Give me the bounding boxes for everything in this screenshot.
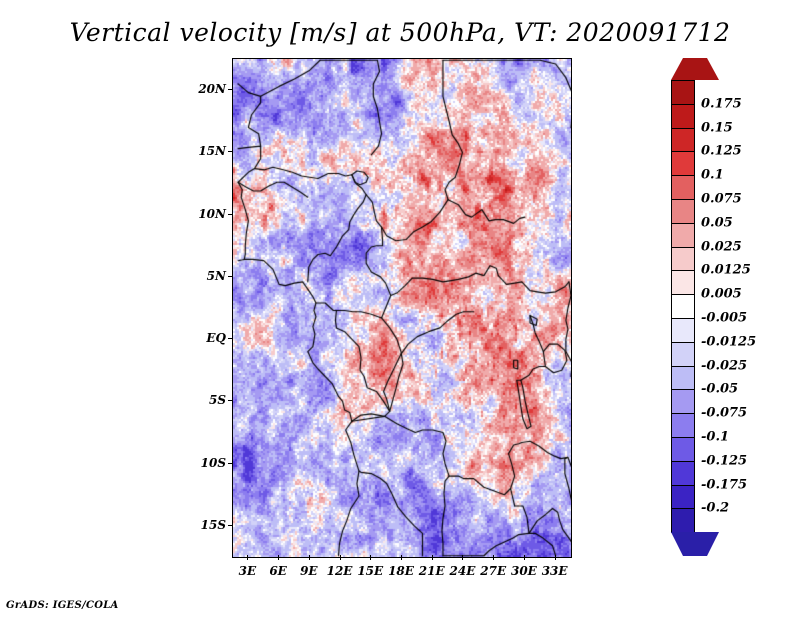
colorbar-tick-label: -0.2	[701, 501, 729, 516]
colorbar-swatch	[671, 318, 695, 343]
colorbar-swatch	[671, 413, 695, 438]
colorbar-swatch	[671, 270, 695, 295]
colorbar-tick-label: 0.025	[701, 239, 742, 254]
colorbar-tick-label: -0.125	[701, 453, 747, 468]
colorbar-tick-label: -0.075	[701, 406, 747, 421]
colorbar-under-arrow	[671, 532, 719, 556]
colorbar-tick-label: 0.125	[701, 144, 742, 159]
colorbar-swatch	[671, 247, 695, 272]
lon-tick-mark	[247, 555, 248, 560]
lon-tick-mark	[370, 555, 371, 560]
colorbar-swatch	[671, 366, 695, 391]
colorbar-swatch	[671, 80, 695, 105]
lon-tick-label: 27E	[480, 564, 506, 578]
colorbar-swatch	[671, 223, 695, 248]
lon-tick-mark	[462, 555, 463, 560]
lat-tick-mark	[228, 151, 233, 152]
lat-tick-mark	[228, 338, 233, 339]
colorbar-tick-label: -0.175	[701, 477, 747, 492]
lon-tick-label: 3E	[239, 564, 257, 578]
lat-tick-mark	[228, 400, 233, 401]
lon-tick-mark	[340, 555, 341, 560]
colorbar-swatch	[671, 199, 695, 224]
country-borders-overlay	[233, 59, 571, 557]
lon-tick-label: 12E	[327, 564, 353, 578]
colorbar-swatch	[671, 508, 695, 533]
lon-tick-mark	[401, 555, 402, 560]
colorbar-tick-label: 0.1	[701, 168, 724, 183]
lon-tick-mark	[278, 555, 279, 560]
lon-tick-mark	[493, 555, 494, 560]
colorbar-swatch	[671, 175, 695, 200]
lat-tick-mark	[228, 463, 233, 464]
lat-tick-label: 15S	[190, 518, 226, 532]
lon-tick-mark	[309, 555, 310, 560]
colorbar-tick-label: -0.05	[701, 382, 738, 397]
colorbar-swatch	[671, 294, 695, 319]
lat-tick-label: 5N	[190, 269, 226, 283]
colorbar-tick-label: 0.05	[701, 215, 733, 230]
colorbar-swatch	[671, 151, 695, 176]
colorbar-tick-label: -0.025	[701, 358, 747, 373]
lon-tick-label: 9E	[300, 564, 318, 578]
colorbar-swatch	[671, 389, 695, 414]
lon-tick-label: 33E	[542, 564, 568, 578]
lat-tick-label: 15N	[190, 144, 226, 158]
lat-tick-label: 5S	[190, 393, 226, 407]
lon-tick-label: 30E	[511, 564, 537, 578]
lon-tick-label: 24E	[450, 564, 476, 578]
lon-tick-label: 15E	[357, 564, 383, 578]
lon-tick-label: 18E	[388, 564, 414, 578]
lat-tick-label: 20N	[190, 82, 226, 96]
colorbar-swatch	[671, 461, 695, 486]
colorbar-tick-label: -0.1	[701, 430, 729, 445]
lon-tick-mark	[555, 555, 556, 560]
map-panel	[232, 58, 572, 558]
lat-tick-label: 10S	[190, 456, 226, 470]
lat-tick-label: 10N	[190, 207, 226, 221]
lat-tick-label: EQ	[190, 331, 226, 345]
lon-tick-mark	[524, 555, 525, 560]
colorbar-tick-label: 0.005	[701, 287, 742, 302]
page-title: Vertical velocity [m/s] at 500hPa, VT: 2…	[0, 18, 800, 47]
colorbar-swatch	[671, 485, 695, 510]
lat-tick-mark	[228, 276, 233, 277]
lon-tick-label: 21E	[419, 564, 445, 578]
colorbar-tick-label: 0.175	[701, 96, 742, 111]
footer-credit: GrADS: IGES/COLA	[6, 600, 119, 611]
colorbar-tick-label: 0.15	[701, 120, 733, 135]
colorbar-tick-label: -0.0125	[701, 334, 756, 349]
lon-tick-mark	[432, 555, 433, 560]
lat-tick-mark	[228, 89, 233, 90]
colorbar-swatch	[671, 128, 695, 153]
colorbar-swatch	[671, 437, 695, 462]
lat-tick-mark	[228, 214, 233, 215]
colorbar-tick-label: -0.005	[701, 311, 747, 326]
colorbar-tick-label: 0.075	[701, 192, 742, 207]
colorbar-swatch	[671, 104, 695, 129]
lon-tick-label: 6E	[269, 564, 287, 578]
colorbar-tick-label: 0.0125	[701, 263, 751, 278]
colorbar-over-arrow	[671, 58, 719, 80]
lat-tick-mark	[228, 525, 233, 526]
colorbar-swatch	[671, 342, 695, 367]
